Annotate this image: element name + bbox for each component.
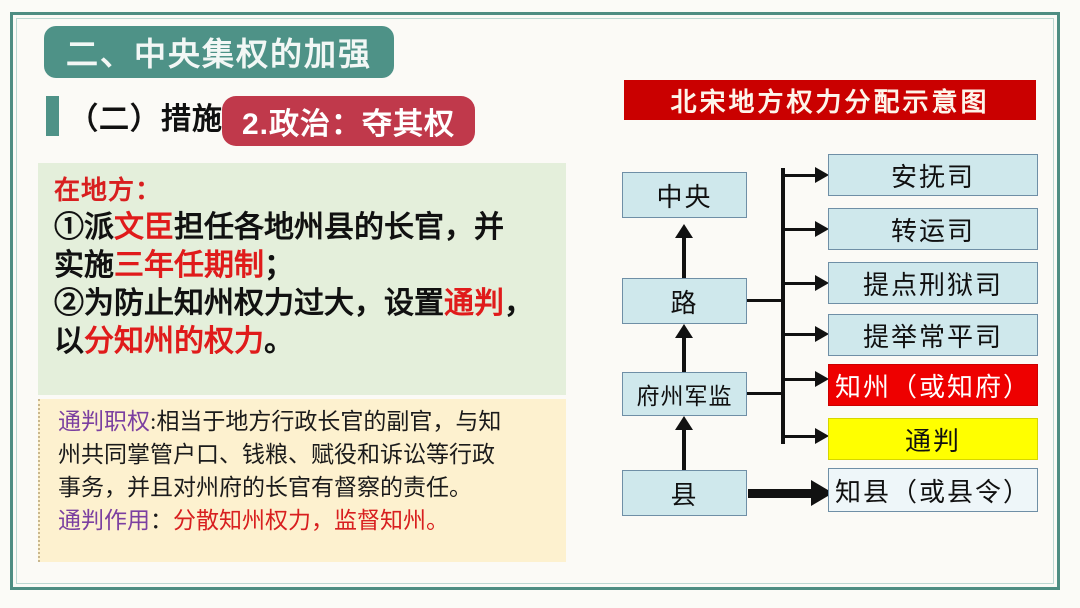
local-measure-line: ①派文臣担任各地州县的长官，并 [54,209,552,247]
highlighted-term: 三年任期制 [114,249,264,282]
node-xian: 县 [622,470,747,516]
diagram-title-banner: 北宋地方权力分配示意图 [624,80,1036,120]
spine-arrow-lu-to-central [675,224,693,238]
power-distribution-diagram: 北宋地方权力分配示意图 中央 路 府州军监 县 安抚司 转运司 提点刑狱司 提举… [600,80,1048,560]
tongpan-note-line: 通判作用：分散知州权力，监督知州。 [58,504,556,537]
note-label: 通判职权 [58,409,150,434]
plain-text: 实施 [54,249,114,282]
measure-badge: 2.政治：夺其权 [222,96,475,146]
node-zhuanyunsi: 转运司 [828,208,1038,250]
plain-text: ， [504,287,534,320]
section-title-banner: 二、中央集权的加强 [44,26,394,78]
highlighted-term: 文臣 [114,211,174,244]
arrow-stem-tiju [785,333,817,336]
node-central: 中央 [622,172,747,218]
spine-line-fuzhou-to-lu [682,336,686,372]
tongpan-note-line: 事务，并且对州府的长官有督察的责任。 [58,471,556,504]
local-measures-lines: ①派文臣担任各地州县的长官，并实施三年任期制；②为防止知州权力过大，设置通判，以… [54,209,552,361]
note-emphasis: 分散知州权力，监督知州。 [173,508,449,533]
spine-arrow-xian-to-fuzhou [675,416,693,430]
node-zhizhou: 知州（或知府） [828,364,1038,406]
note-label: 通判作用 [58,508,150,533]
arrow-head-tiju [815,326,829,342]
arrow-stem-zhixian [748,489,813,498]
note-text: 事务，并且对州府的长官有督察的责任。 [58,475,472,500]
tongpan-note-line: 州共同掌管户口、钱粮、赋役和诉讼等行政 [58,438,556,471]
node-zhixian: 知县（或县令） [828,468,1038,512]
plain-text: 以 [54,325,84,358]
highlighted-term: 分知州的权力 [84,325,264,358]
local-measure-line: 以分知州的权力。 [54,323,552,361]
plain-text: 担任各地州县的长官，并 [174,211,504,244]
arrow-stem-zhuanyun [785,228,817,231]
lu-branch-stub [747,299,783,302]
arrow-stem-tidian [785,282,817,285]
plain-text: ； [264,249,294,282]
arrow-head-zhuanyun [815,221,829,237]
plain-text: 。 [264,325,294,358]
spine-arrow-fuzhou-to-lu [675,324,693,338]
note-text: ： [150,508,173,533]
arrow-head-zhizhou [815,371,829,387]
local-measures-heading: 在地方： [54,173,552,209]
arrow-head-tidian [815,275,829,291]
local-measure-line: 实施三年任期制； [54,247,552,285]
node-tijuchangpingsi: 提举常平司 [828,314,1038,356]
node-fuzhoujunjian: 府州军监 [622,372,747,416]
spine-line-lu-to-central [682,236,686,278]
spine-line-xian-to-fuzhou [682,428,686,470]
fuzhou-branch-stub [747,392,783,395]
local-measure-line: ②为防止知州权力过大，设置通判， [54,285,552,323]
highlighted-term: 通判 [444,287,504,320]
arrow-stem-zhizhou [785,378,817,381]
arrow-head-tongpan [815,428,829,444]
node-tidianxingyusi: 提点刑狱司 [828,262,1038,304]
tongpan-note-lines: 通判职权:相当于地方行政长官的副官，与知州共同掌管户口、钱粮、赋役和诉讼等行政事… [58,405,556,537]
tongpan-note-box: 通判职权:相当于地方行政长官的副官，与知州共同掌管户口、钱粮、赋役和诉讼等行政事… [38,399,566,562]
node-lu: 路 [622,278,747,324]
plain-text: ①派 [54,211,114,244]
note-text: 州共同掌管户口、钱粮、赋役和诉讼等行政 [58,442,495,467]
plain-text: ②为防止知州权力过大，设置 [54,287,444,320]
local-measures-box: 在地方： ①派文臣担任各地州县的长官，并实施三年任期制；②为防止知州权力过大，设… [38,163,566,395]
lu-branch-trunk [781,168,785,386]
fuzhou-branch-trunk [781,372,785,444]
arrow-stem-anfu [785,174,817,177]
note-text: :相当于地方行政长官的副官，与知 [150,409,501,434]
tongpan-note-line: 通判职权:相当于地方行政长官的副官，与知 [58,405,556,438]
node-tongpan: 通判 [828,418,1038,460]
sub-title: （二）措施 [68,94,223,138]
node-anfusi: 安抚司 [828,154,1038,196]
arrow-head-anfu [815,167,829,183]
arrow-stem-tongpan [785,435,817,438]
sub-title-marker [46,96,59,136]
